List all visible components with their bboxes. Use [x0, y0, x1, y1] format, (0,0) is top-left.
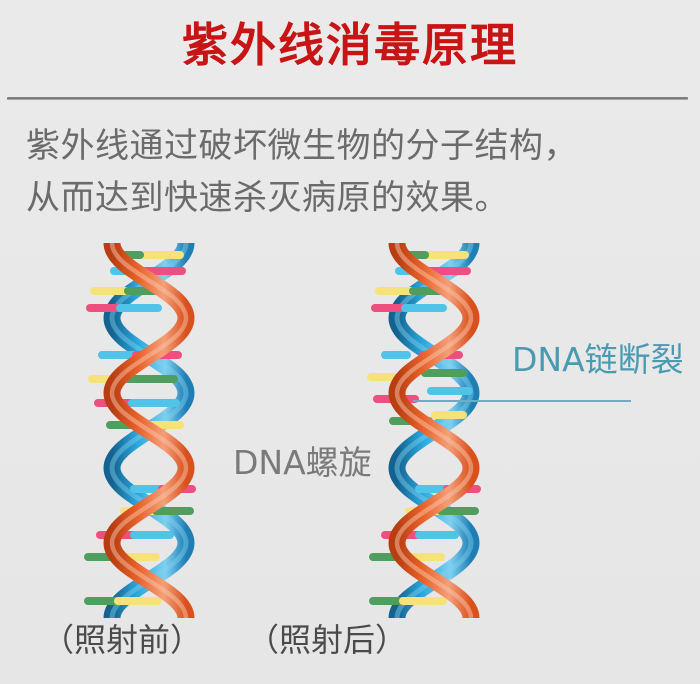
caption-before-irradiation: （照射前）: [42, 618, 202, 662]
caption-after-irradiation: （照射后）: [247, 618, 407, 662]
header-divider: [7, 97, 688, 100]
dna-break-leader-line: [413, 400, 631, 402]
dna-helix-label: DNA螺旋: [233, 443, 372, 483]
intro-line-2: 从而达到快速杀灭病原的效果。: [26, 172, 686, 224]
intro-paragraph: 紫外线通过破坏微生物的分子结构， 从而达到快速杀灭病原的效果。: [26, 120, 686, 224]
intro-line-1: 紫外线通过破坏微生物的分子结构，: [26, 120, 686, 172]
page-root: 紫外线消毒原理 紫外线通过破坏微生物的分子结构， 从而达到快速杀灭病原的效果。: [0, 0, 700, 684]
dna-helix-intact: [74, 243, 224, 618]
page-title: 紫外线消毒原理: [0, 14, 700, 76]
dna-break-label: DNA链断裂: [512, 340, 684, 380]
dna-helix-broken: [359, 243, 509, 618]
